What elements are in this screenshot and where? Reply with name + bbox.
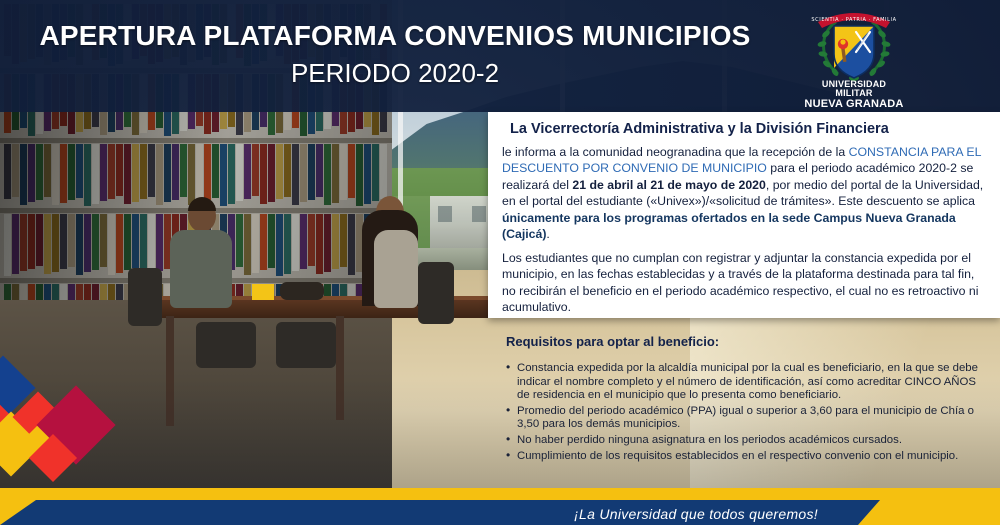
logo-wordmark: UNIVERSIDAD MILITAR NUEVA GRANADA	[802, 80, 906, 110]
list-item: Promedio del periodo académico (PPA) igu…	[506, 405, 986, 432]
logo-line-2: NUEVA GRANADA	[802, 99, 906, 111]
list-item: Constancia expedida por la alcaldía muni…	[506, 362, 986, 403]
panel-heading: La Vicerrectoría Administrativa y la Div…	[510, 121, 990, 137]
p1-seg1: le informa a la comunidad neogranadina q…	[502, 145, 849, 159]
photo-student-left	[168, 200, 238, 310]
svg-text:SCIENTIA · PATRIA · FAMILIA: SCIENTIA · PATRIA · FAMILIA	[811, 17, 896, 23]
photo-chair	[418, 262, 454, 324]
p1-seg7: .	[546, 227, 549, 241]
header-bar: APERTURA PLATAFORMA CONVENIOS MUNICIPIOS…	[0, 0, 1000, 112]
list-item: No haber perdido ninguna asignatura en l…	[506, 434, 986, 448]
page-subtitle: PERIODO 2020-2	[0, 58, 790, 89]
photo-yellow-book	[252, 284, 274, 300]
info-panel: La Vicerrectoría Administrativa y la Div…	[488, 112, 1000, 318]
photo-student-right	[352, 196, 428, 324]
footer-slogan: ¡La Universidad que todos queremos!	[0, 506, 860, 522]
panel-paragraph-2: Los estudiantes que no cumplan con regis…	[502, 250, 986, 316]
photo-bag	[280, 282, 324, 300]
requirements-heading: Requisitos para optar al beneficio:	[506, 334, 986, 349]
photo-chair	[196, 322, 256, 368]
panel-paragraph-1: le informa a la comunidad neogranadina q…	[502, 144, 988, 242]
p1-campus-note: únicamente para los programas ofertados …	[502, 211, 956, 241]
page-title: APERTURA PLATAFORMA CONVENIOS MUNICIPIOS	[0, 20, 790, 52]
requirements-list: Constancia expedida por la alcaldía muni…	[506, 362, 986, 463]
p1-dates: 21 de abril al 21 de mayo de 2020	[572, 178, 765, 192]
photo-chair	[276, 322, 336, 368]
photo-table-leg	[336, 316, 344, 420]
poster-canvas: APERTURA PLATAFORMA CONVENIOS MUNICIPIOS…	[0, 0, 1000, 525]
decorative-diamonds	[0, 355, 184, 495]
logo-line-1: UNIVERSIDAD MILITAR	[802, 80, 906, 99]
list-item: Cumplimiento de los requisitos estableci…	[506, 450, 986, 464]
photo-chair	[128, 268, 162, 326]
requirements-section: Requisitos para optar al beneficio: Cons…	[488, 318, 1000, 488]
